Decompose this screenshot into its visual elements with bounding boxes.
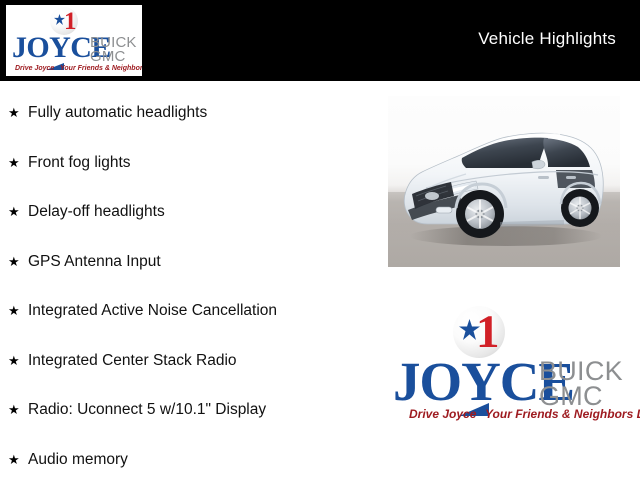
tagline-right: Your Friends & Neighbors Do!: [485, 408, 640, 420]
badge-number: 1: [476, 309, 500, 356]
list-item-label: Integrated Active Noise Cancellation: [28, 302, 277, 319]
footer-dealer-logo[interactable]: 1 JOYCE BUICK GMC Drive Joyce Your Frien…: [393, 304, 621, 424]
list-item: ★ Fully automatic headlights: [0, 88, 370, 138]
star-bullet-icon: ★: [8, 286, 20, 336]
tagline-left: Drive Joyce: [409, 408, 476, 420]
star-bullet-icon: ★: [8, 336, 20, 386]
brand-make-secondary: GMC: [539, 383, 603, 410]
tagline-left: Drive Joyce: [15, 65, 54, 72]
minivan-illustration: [388, 96, 620, 267]
star-bullet-icon: ★: [8, 187, 20, 237]
page-title: Vehicle Highlights: [478, 29, 616, 49]
list-item: ★ Integrated Active Noise Cancellation: [0, 286, 370, 336]
list-item: ★ Audio memory: [0, 435, 370, 484]
star-bullet-icon: ★: [8, 88, 20, 138]
list-item: ★ Radio: Uconnect 5 w/10.1" Display: [0, 385, 370, 435]
star-bullet-icon: ★: [8, 237, 20, 287]
header-dealer-logo[interactable]: 1 JOYCE BUICK GMC Drive Joyce Your Frien…: [6, 5, 142, 76]
list-item-label: Audio memory: [28, 451, 128, 468]
list-item: ★ Integrated Center Stack Radio: [0, 336, 370, 386]
vehicle-photo[interactable]: [388, 96, 620, 267]
joyce-logo-small: 1 JOYCE BUICK GMC Drive Joyce Your Frien…: [6, 5, 142, 76]
list-item: ★ GPS Antenna Input: [0, 237, 370, 287]
list-item-label: GPS Antenna Input: [28, 253, 161, 270]
star-bullet-icon: ★: [8, 435, 20, 484]
list-item-label: Front fog lights: [28, 154, 131, 171]
header-bar: 1 JOYCE BUICK GMC Drive Joyce Your Frien…: [0, 0, 640, 81]
list-item-label: Radio: Uconnect 5 w/10.1" Display: [28, 401, 266, 418]
star-bullet-icon: ★: [8, 385, 20, 435]
vehicle-highlights-list: ★ Fully automatic headlights ★ Front fog…: [0, 88, 370, 484]
list-item: ★ Delay-off headlights: [0, 187, 370, 237]
star-bullet-icon: ★: [8, 138, 20, 188]
list-item-label: Integrated Center Stack Radio: [28, 352, 237, 369]
list-item-label: Delay-off headlights: [28, 203, 165, 220]
list-item: ★ Front fog lights: [0, 138, 370, 188]
brand-make-secondary: GMC: [90, 49, 125, 64]
joyce-logo-large: 1 JOYCE BUICK GMC Drive Joyce Your Frien…: [393, 304, 621, 424]
list-item-label: Fully automatic headlights: [28, 104, 207, 121]
tagline-right: Your Friends & Neighbors Do!: [60, 65, 142, 72]
